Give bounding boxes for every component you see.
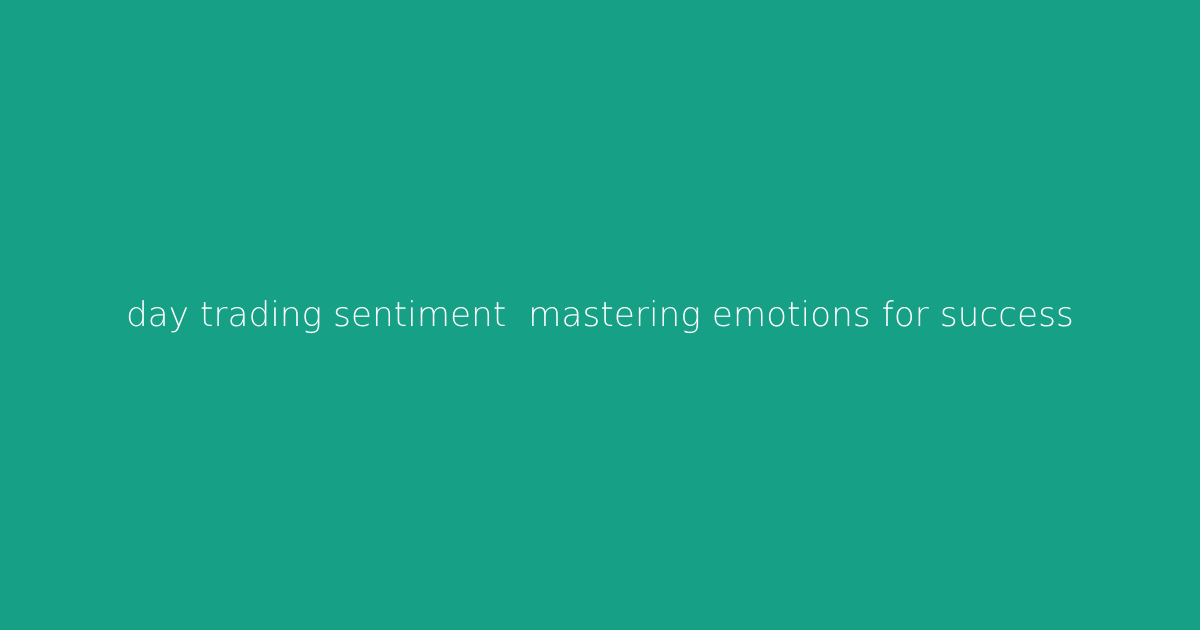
placeholder-card: day trading sentiment mastering emotions… [0,0,1200,630]
card-caption: day trading sentiment mastering emotions… [86,294,1114,337]
